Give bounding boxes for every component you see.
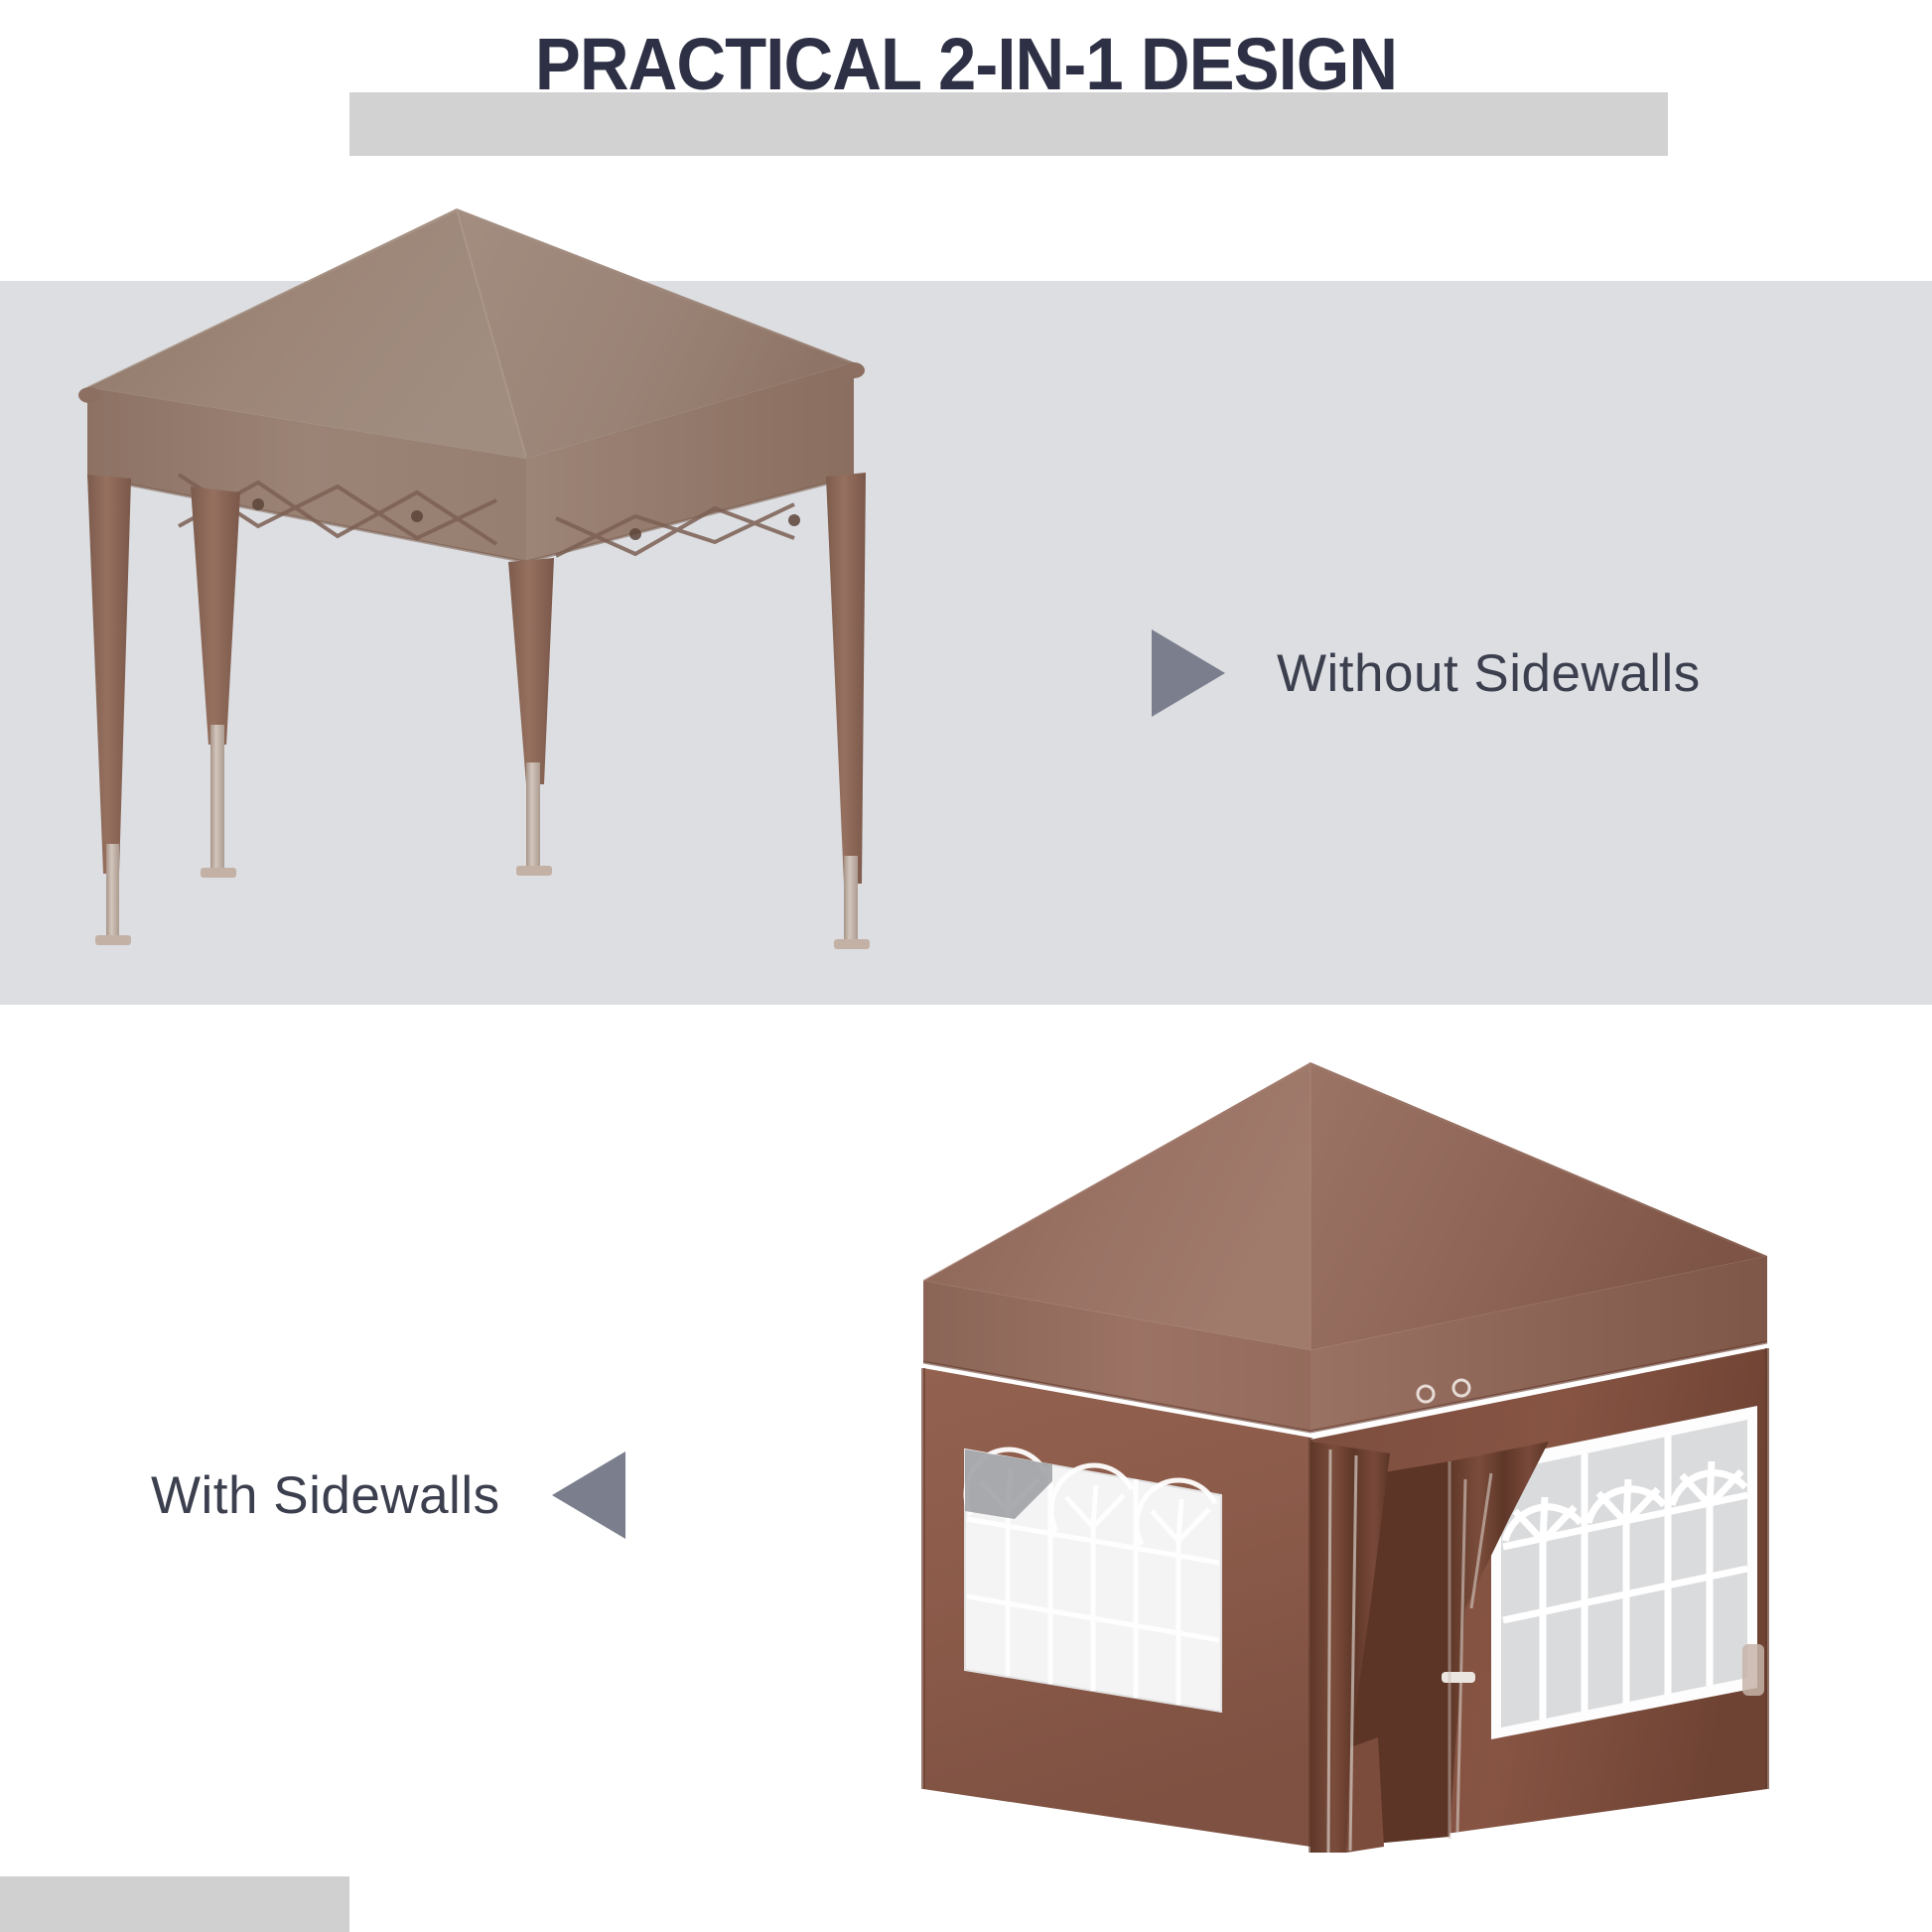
sidewall-right [1311, 1348, 1767, 1853]
bottom-left-accent-block [0, 1876, 349, 1932]
arrow-right-icon [1152, 629, 1225, 717]
arrow-left-icon [552, 1451, 625, 1539]
product-image-gazebo-with-sidewalls [755, 1052, 1886, 1926]
infographic-canvas: PRACTICAL 2-IN-1 DESIGN [0, 0, 1932, 1932]
callout-label-with-sidewalls: With Sidewalls [151, 1465, 500, 1526]
callout-with-sidewalls: With Sidewalls [151, 1451, 625, 1539]
callout-without-sidewalls: Without Sidewalls [1152, 629, 1701, 717]
sidewall-left-window [965, 1449, 1221, 1712]
sidewall-left [923, 1368, 1311, 1847]
product-image-gazebo-without-sidewalls [60, 189, 1112, 1003]
callout-label-without-sidewalls: Without Sidewalls [1277, 643, 1701, 704]
page-title: PRACTICAL 2-IN-1 DESIGN [68, 28, 1864, 101]
